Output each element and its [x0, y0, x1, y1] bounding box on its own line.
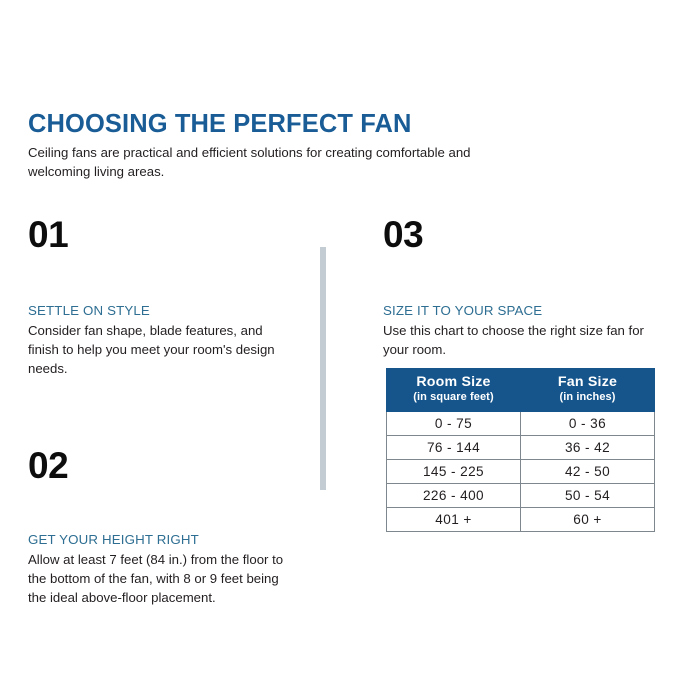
cell-room-size: 76 - 144: [387, 435, 521, 459]
table-header-row: Room Size (in square feet) Fan Size (in …: [387, 369, 655, 412]
cell-fan-size: 50 - 54: [521, 483, 655, 507]
table-row: 401 + 60 +: [387, 507, 655, 531]
table-body: 0 - 75 0 - 36 76 - 144 36 - 42 145 - 225…: [387, 411, 655, 531]
column-divider: [320, 247, 326, 490]
table-row: 226 - 400 50 - 54: [387, 483, 655, 507]
step-text-02: GET YOUR HEIGHT RIGHT Allow at least 7 f…: [28, 532, 296, 607]
step-number-03: 03: [383, 216, 661, 253]
page-title: CHOOSING THE PERFECT FAN: [28, 110, 498, 138]
header-title-fan-size: Fan Size: [521, 374, 654, 391]
cell-fan-size: 36 - 42: [521, 435, 655, 459]
step-block-03: 03 SIZE IT TO YOUR SPACE Use this chart …: [383, 216, 661, 359]
left-column: 01 SETTLE ON STYLE Consider fan shape, b…: [28, 216, 296, 607]
step-text-03: SIZE IT TO YOUR SPACE Use this chart to …: [383, 303, 661, 359]
step-heading-01: SETTLE ON STYLE: [28, 303, 296, 320]
header: CHOOSING THE PERFECT FAN Ceiling fans ar…: [28, 110, 498, 182]
table-header-room-size: Room Size (in square feet): [387, 369, 521, 412]
fan-size-table: Room Size (in square feet) Fan Size (in …: [386, 368, 655, 532]
step-body-03: Use this chart to choose the right size …: [383, 321, 661, 359]
cell-fan-size: 0 - 36: [521, 411, 655, 435]
header-subtitle-fan-size: (in inches): [521, 391, 654, 404]
table-row: 76 - 144 36 - 42: [387, 435, 655, 459]
step-block-02: 02 GET YOUR HEIGHT RIGHT Allow at least …: [28, 447, 296, 607]
intro-paragraph: Ceiling fans are practical and efficient…: [28, 144, 498, 181]
cell-fan-size: 42 - 50: [521, 459, 655, 483]
step-number-01: 01: [28, 216, 296, 253]
step-number-02: 02: [28, 447, 296, 484]
step-block-01: 01 SETTLE ON STYLE Consider fan shape, b…: [28, 216, 296, 378]
header-subtitle-room-size: (in square feet): [387, 391, 520, 404]
cell-room-size: 401 +: [387, 507, 521, 531]
step-body-01: Consider fan shape, blade features, and …: [28, 321, 296, 378]
infographic-page: CHOOSING THE PERFECT FAN Ceiling fans ar…: [0, 0, 700, 700]
header-title-room-size: Room Size: [387, 374, 520, 391]
right-column: 03 SIZE IT TO YOUR SPACE Use this chart …: [383, 216, 661, 359]
table-row: 0 - 75 0 - 36: [387, 411, 655, 435]
step-heading-02: GET YOUR HEIGHT RIGHT: [28, 532, 296, 549]
table-header-fan-size: Fan Size (in inches): [521, 369, 655, 412]
cell-fan-size: 60 +: [521, 507, 655, 531]
step-text-01: SETTLE ON STYLE Consider fan shape, blad…: [28, 303, 296, 378]
cell-room-size: 226 - 400: [387, 483, 521, 507]
table-header: Room Size (in square feet) Fan Size (in …: [387, 369, 655, 412]
table-row: 145 - 225 42 - 50: [387, 459, 655, 483]
cell-room-size: 0 - 75: [387, 411, 521, 435]
cell-room-size: 145 - 225: [387, 459, 521, 483]
step-heading-03: SIZE IT TO YOUR SPACE: [383, 303, 661, 320]
step-body-02: Allow at least 7 feet (84 in.) from the …: [28, 550, 296, 607]
